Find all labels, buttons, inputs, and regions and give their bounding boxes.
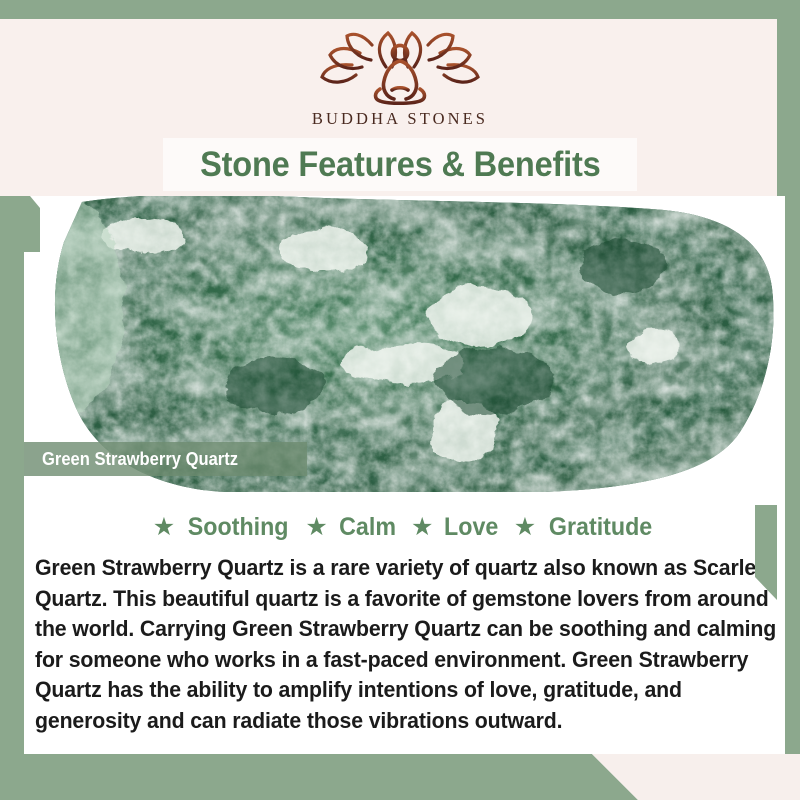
benefit-love: ★ Love — [411, 513, 501, 542]
benefit-label: Calm — [339, 513, 396, 542]
brand-logo: BUDDHA STONES — [0, 27, 800, 129]
photo-caption-text: Green Strawberry Quartz — [42, 449, 238, 470]
content-panel: ★ Soothing ★ Calm ★ Love ★ Gratitude Gre… — [24, 492, 785, 754]
lotus-meditating-buddha-icon — [316, 27, 484, 107]
benefit-label: Love — [444, 513, 498, 542]
stone-description: Green Strawberry Quartz is a rare variet… — [35, 553, 789, 736]
star-icon: ★ — [153, 515, 175, 540]
benefit-label: Soothing — [188, 513, 289, 542]
benefit-gratitude: ★ Gratitude — [514, 513, 657, 542]
top-green-band — [0, 0, 800, 19]
star-icon: ★ — [411, 515, 433, 540]
page-title-box: Stone Features & Benefits — [163, 138, 637, 191]
left-corner-notch — [0, 196, 40, 252]
photo-caption: Green Strawberry Quartz — [24, 442, 307, 476]
benefit-calm: ★ Calm — [305, 513, 398, 542]
poster-root: BUDDHA STONES Stone Features & Benefits — [0, 0, 800, 800]
benefit-soothing: ★ Soothing — [153, 513, 293, 542]
star-icon: ★ — [514, 515, 536, 540]
stone-photo: Green Strawberry Quartz — [24, 196, 785, 492]
star-icon: ★ — [305, 515, 327, 540]
left-green-border — [0, 196, 24, 800]
brand-name: BUDDHA STONES — [312, 109, 488, 129]
benefits-row: ★ Soothing ★ Calm ★ Love ★ Gratitude — [24, 492, 785, 542]
page-title: Stone Features & Benefits — [200, 145, 601, 185]
benefit-label: Gratitude — [549, 513, 652, 542]
